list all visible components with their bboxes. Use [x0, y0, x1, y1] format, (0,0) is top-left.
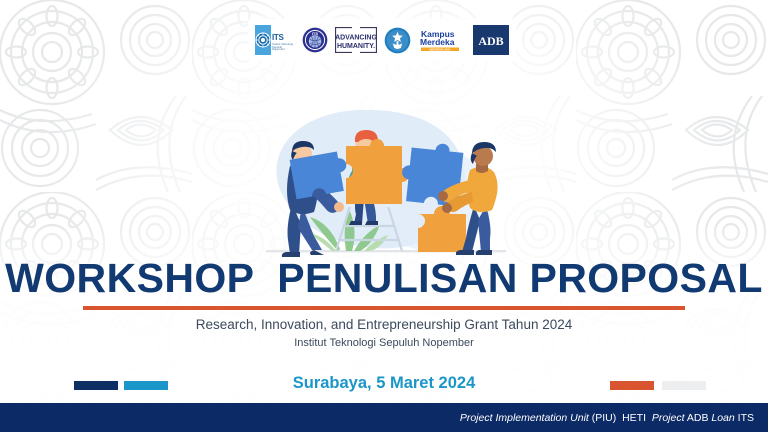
title-block: WORKSHOP PENULISAN PROPOSAL Research, In… [0, 258, 768, 349]
footer-part-6: ITS [735, 412, 754, 424]
subtitle-primary: Research, Innovation, and Entrepreneursh… [0, 317, 768, 332]
its-logo-mark [255, 25, 271, 55]
deco-bar-orange [610, 381, 654, 390]
adb-abbr: ADB [478, 34, 503, 48]
footer-part-1: Project Implementation Unit [460, 412, 589, 424]
its-caption: Institut Teknologi Sepuluh Nopember [272, 44, 295, 52]
footer-bar: Project Implementation Unit (PIU) HETI P… [0, 403, 768, 432]
puzzle-piece-orange-center [346, 139, 409, 204]
adb-logo: ADB [473, 25, 509, 55]
advancing-humanity-line1: ADVANCING [335, 35, 377, 42]
its-abbr: ITS [272, 33, 284, 42]
footer-part-4: ADB [685, 412, 712, 424]
page-title: WORKSHOP PENULISAN PROPOSAL [0, 258, 768, 299]
its-globe-logo: ITS [302, 27, 328, 53]
footer-part-2: (PIU) HETI [589, 412, 652, 424]
kampus-merdeka-line3: INDONESIA JAYA [430, 49, 451, 52]
advancing-humanity-line2: HUMANITY. [337, 43, 375, 50]
deco-bar-navy [74, 381, 118, 390]
deco-bar-cyan [124, 381, 168, 390]
logo-band: ITS Institut Teknologi Sepuluh Nopember … [248, 19, 516, 61]
subtitle-institution: Institut Teknologi Sepuluh Nopember [0, 337, 768, 349]
kemdikbud-tutwuri-logo [384, 27, 411, 54]
kampus-merdeka-line2: Merdeka [420, 37, 455, 47]
teamwork-puzzle-illustration [238, 88, 530, 263]
footer-part-5: Loan [711, 412, 734, 424]
title-underline-rule [83, 306, 685, 310]
advancing-humanity-logo: ADVANCING HUMANITY. [335, 27, 377, 53]
its-logo: ITS Institut Teknologi Sepuluh Nopember [255, 25, 295, 55]
deco-bar-gray [662, 381, 706, 390]
kampus-merdeka-logo: Kampus Merdeka INDONESIA JAYA [418, 26, 466, 54]
its-logo-wordmark: ITS Institut Teknologi Sepuluh Nopember [272, 28, 295, 52]
footer-part-3: Project [652, 412, 685, 424]
footer-text: Project Implementation Unit (PIU) HETI P… [460, 412, 768, 424]
presentation-slide: ITS Institut Teknologi Sepuluh Nopember … [0, 0, 768, 432]
svg-text:ITS: ITS [312, 31, 318, 36]
